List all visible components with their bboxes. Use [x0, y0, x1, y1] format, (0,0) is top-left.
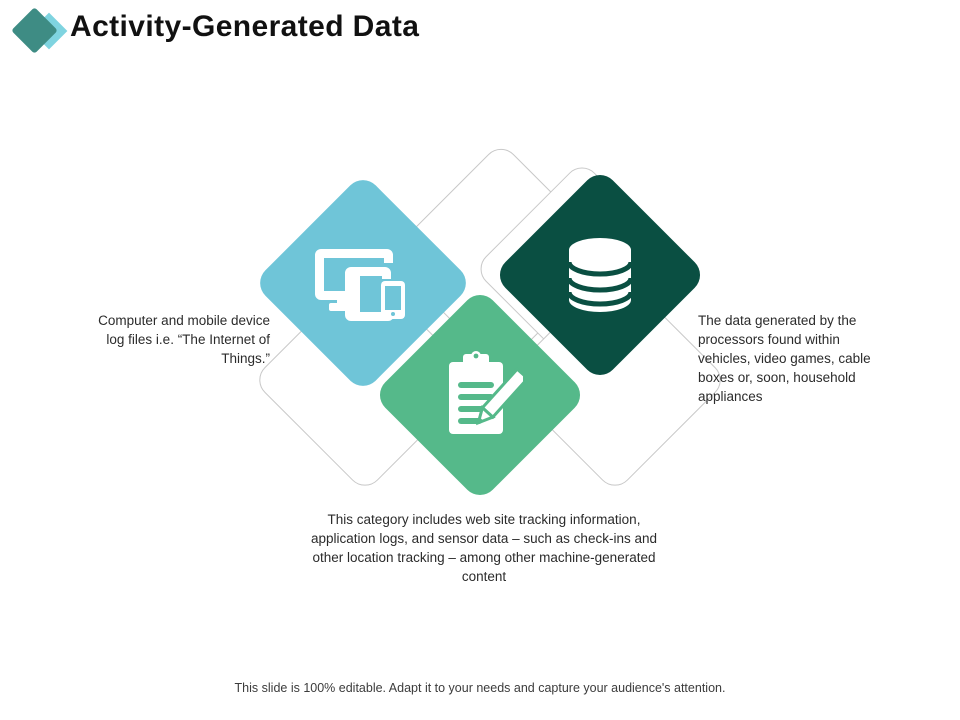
callout-clipboard: This category includes web site tracking…: [300, 510, 668, 586]
footer-note: This slide is 100% editable. Adapt it to…: [0, 681, 960, 695]
clipboard-pencil-icon: [404, 319, 556, 471]
diagram-node-clipboard[interactable]: [373, 288, 588, 503]
callout-devices: Computer and mobile device log files i.e…: [88, 311, 270, 368]
callout-database: The data generated by the processors fou…: [698, 311, 894, 406]
